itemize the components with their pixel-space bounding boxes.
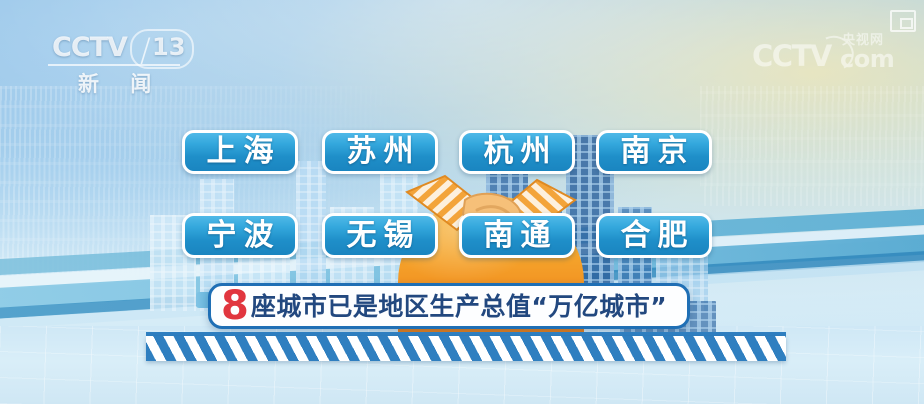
city-label: 南通 [477,221,558,251]
broadcast-screenshot: 上海 苏州 杭州 南京 宁波 无锡 南通 合肥 8 座城市已是地区生产总值“万亿… [0,0,924,404]
city-label: 宁波 [200,221,281,251]
picture-in-picture-icon[interactable] [890,10,916,32]
caption-banner: 8 座城市已是地区生产总值“万亿城市” [208,283,690,329]
cctv13-logo: CCTV / 13 新 闻 [48,34,180,92]
logo-underline [48,64,180,66]
caption-text: 座城市已是地区生产总值“万亿城市” [251,294,667,319]
diagonal-stripe-band [146,336,786,361]
city-button-ningbo[interactable]: 宁波 [182,213,298,258]
city-label: 合肥 [614,221,695,251]
city-button-suzhou[interactable]: 苏州 [322,130,438,174]
city-button-hefei[interactable]: 合肥 [596,213,712,258]
watermark-domain: com [840,47,894,71]
city-button-hangzhou[interactable]: 杭州 [459,130,575,174]
watermark-brand: CCTV [752,42,831,71]
city-label: 上海 [200,137,281,167]
city-label: 南京 [614,137,695,167]
city-label: 杭州 [477,137,558,167]
city-button-nantong[interactable]: 南通 [459,213,575,258]
city-button-wuxi[interactable]: 无锡 [322,213,438,258]
logo-channel-number: 13 [152,35,185,59]
city-button-shanghai[interactable]: 上海 [182,130,298,174]
cctv-com-watermark: CCTV 央视网 com [752,36,902,76]
city-label: 无锡 [340,221,421,251]
caption-number: 8 [221,286,249,326]
city-label: 苏州 [340,137,421,167]
logo-cctv-text: CCTV [52,34,127,61]
city-button-nanjing[interactable]: 南京 [596,130,712,174]
logo-subtitle: 新 闻 [78,68,163,98]
